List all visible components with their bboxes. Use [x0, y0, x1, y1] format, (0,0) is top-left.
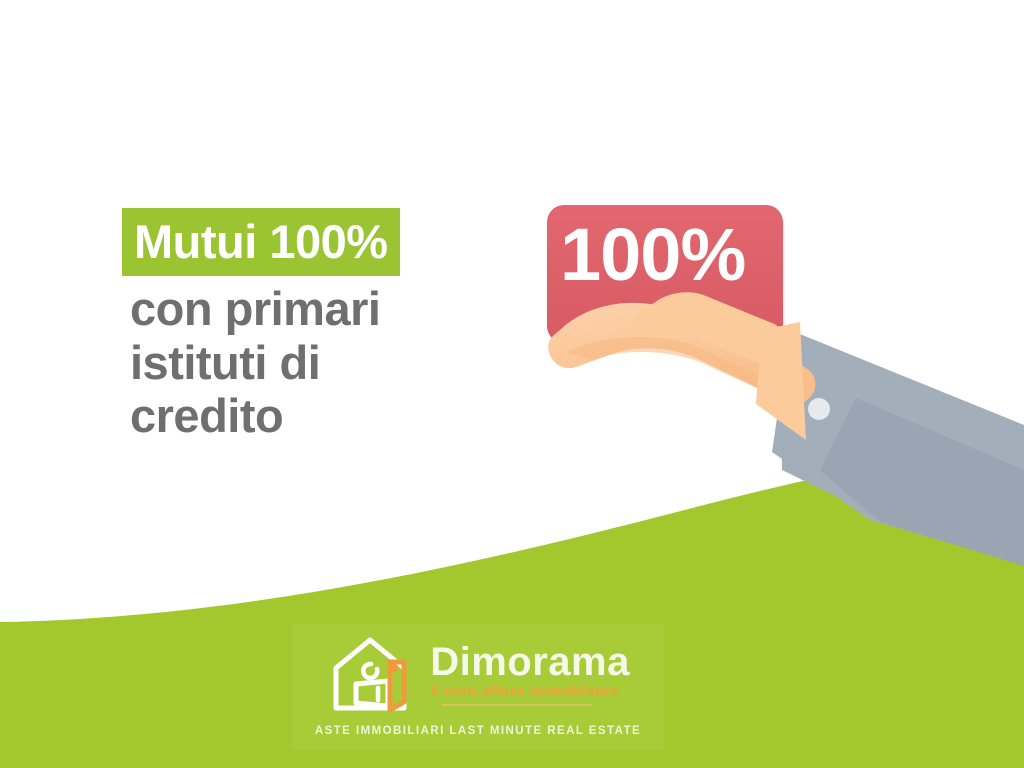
thumb-shape	[631, 292, 787, 364]
headline-line-1: con primari	[130, 282, 542, 336]
logo-wordmark: Dimorama Il vero affare immobiliare	[430, 642, 630, 706]
logo-row: Dimorama Il vero affare immobiliare	[326, 632, 630, 718]
logo-subtitle: ASTE IMMOBILIARI LAST MINUTE REAL ESTATE	[315, 725, 641, 737]
logo-tagline: Il vero affare immobiliare	[430, 684, 618, 701]
headline-block: Mutui 100% con primari istituti di credi…	[122, 208, 542, 443]
sleeve-shadow	[820, 398, 1024, 566]
logo-name: Dimorama	[430, 642, 630, 683]
promo-banner: 100% Mutui 100% con primari istituti di …	[0, 0, 1024, 768]
headline-line-3: credito	[130, 389, 542, 443]
house-outline-icon	[326, 632, 422, 718]
headline-line-2: istituti di	[130, 336, 542, 390]
card-percent-label: 100%	[560, 218, 745, 292]
palm-shading	[566, 337, 787, 402]
headline-highlight: Mutui 100%	[122, 208, 400, 276]
sleeve-button-icon	[808, 398, 830, 420]
logo-divider	[442, 704, 592, 706]
palm-shape	[548, 303, 815, 404]
sleeve-shape	[780, 333, 1024, 560]
logo-lockup[interactable]: Dimorama Il vero affare immobiliare ASTE…	[292, 624, 664, 750]
sleeve-shape-main	[772, 330, 1024, 565]
wrist-shape	[756, 322, 806, 440]
